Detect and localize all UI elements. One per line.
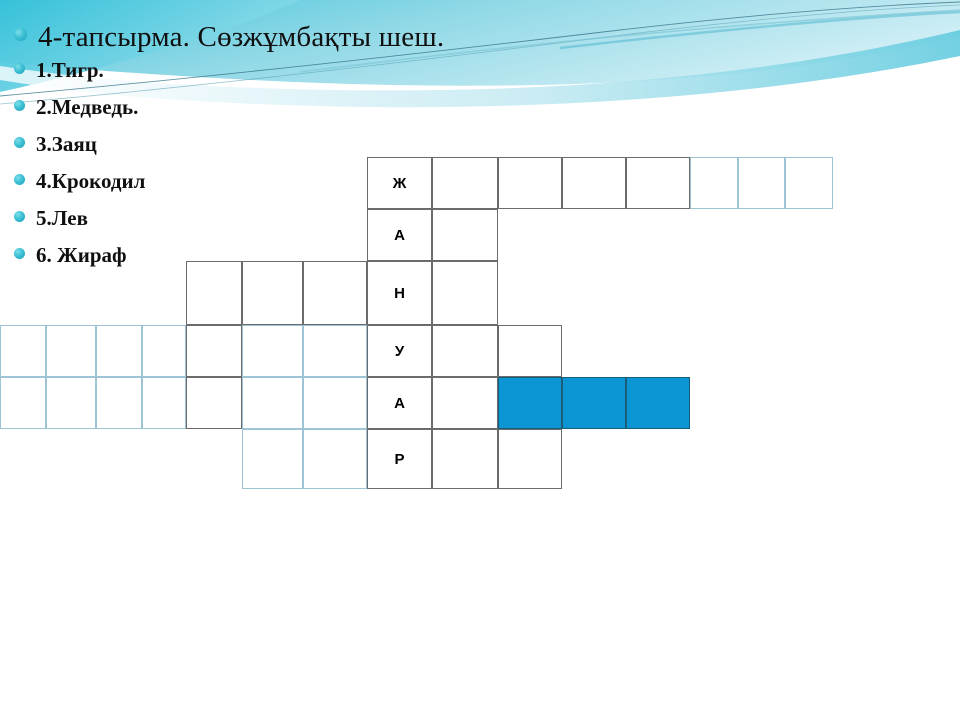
crossword-cell[interactable]: [432, 377, 498, 429]
crossword-cell[interactable]: [242, 325, 303, 377]
crossword-cell[interactable]: [562, 377, 626, 429]
crossword-cell[interactable]: [303, 377, 367, 429]
crossword-cell[interactable]: [242, 377, 303, 429]
crossword-cell[interactable]: [46, 377, 96, 429]
crossword-cell-filled[interactable]: Р: [367, 429, 432, 489]
crossword-cell[interactable]: [303, 261, 367, 325]
crossword-cell-filled[interactable]: У: [367, 325, 432, 377]
crossword-letter: У: [395, 343, 404, 360]
crossword-cell[interactable]: [498, 325, 562, 377]
crossword-grid: ЖАНУАР: [0, 0, 960, 720]
crossword-cell[interactable]: [96, 377, 142, 429]
crossword-cell[interactable]: [432, 261, 498, 325]
crossword-cell[interactable]: [303, 325, 367, 377]
crossword-letter: Р: [394, 451, 404, 468]
crossword-cell[interactable]: [432, 209, 498, 261]
crossword-cell[interactable]: [690, 157, 738, 209]
crossword-cell[interactable]: [432, 429, 498, 489]
crossword-cell-filled[interactable]: Н: [367, 261, 432, 325]
crossword-cell[interactable]: [186, 325, 242, 377]
crossword-cell[interactable]: [0, 377, 46, 429]
crossword-cell[interactable]: [626, 377, 690, 429]
crossword-letter: А: [394, 395, 405, 412]
crossword-cell[interactable]: [186, 377, 242, 429]
crossword-letter: А: [394, 227, 405, 244]
crossword-cell[interactable]: [186, 261, 242, 325]
crossword-cell[interactable]: [498, 157, 562, 209]
crossword-cell[interactable]: [432, 325, 498, 377]
crossword-letter: Н: [394, 285, 405, 302]
crossword-cell[interactable]: [626, 157, 690, 209]
crossword-cell[interactable]: [432, 157, 498, 209]
crossword-cell-filled[interactable]: А: [367, 209, 432, 261]
crossword-cell[interactable]: [562, 157, 626, 209]
crossword-letter: Ж: [393, 175, 407, 192]
slide-canvas: 4-тапсырма. Сөзжұмбақты шеш. 1.Тигр. 2.М…: [0, 0, 960, 720]
crossword-cell[interactable]: [96, 325, 142, 377]
crossword-cell[interactable]: [498, 429, 562, 489]
crossword-cell[interactable]: [0, 325, 46, 377]
crossword-cell[interactable]: [142, 325, 186, 377]
crossword-cell[interactable]: [303, 429, 367, 489]
crossword-cell[interactable]: [142, 377, 186, 429]
crossword-cell[interactable]: [242, 429, 303, 489]
crossword-cell[interactable]: [738, 157, 785, 209]
crossword-cell-filled[interactable]: Ж: [367, 157, 432, 209]
crossword-cell[interactable]: [46, 325, 96, 377]
crossword-cell[interactable]: [498, 377, 562, 429]
crossword-cell-filled[interactable]: А: [367, 377, 432, 429]
crossword-cell[interactable]: [785, 157, 833, 209]
crossword-cell[interactable]: [242, 261, 303, 325]
